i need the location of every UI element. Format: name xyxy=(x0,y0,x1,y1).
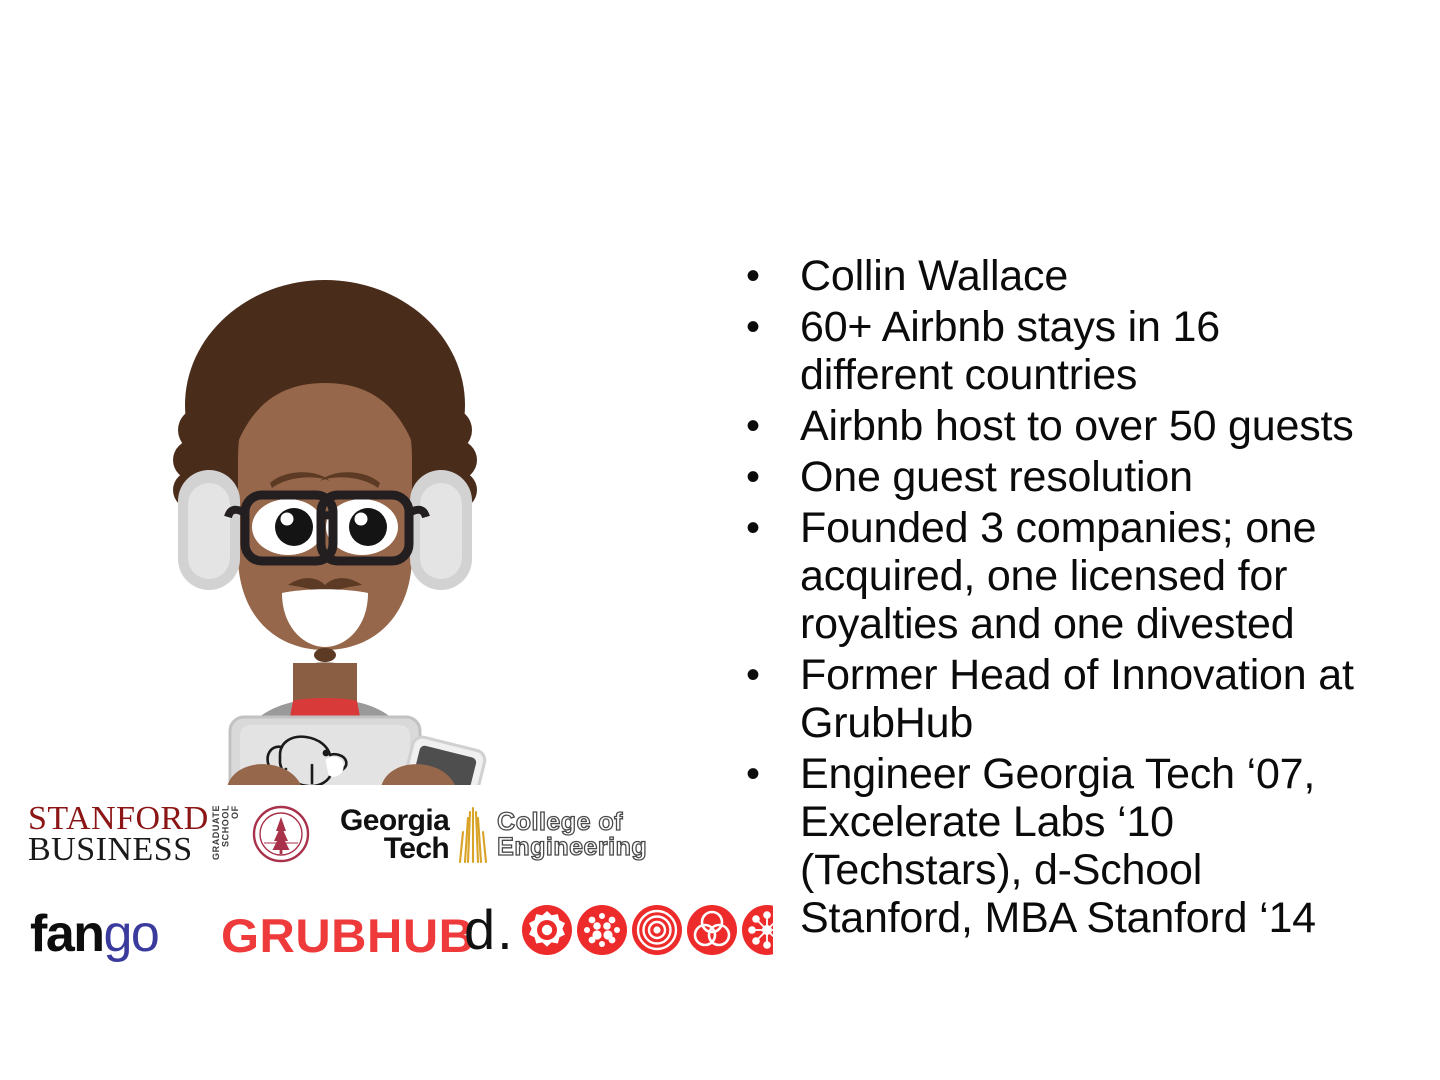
bullet-marker: • xyxy=(738,750,800,798)
slide-canvas: STANFORD BUSINESS GRADUATE SCHOOL OF Geo… xyxy=(0,0,1440,1080)
gear-icon xyxy=(522,905,572,955)
dot-cluster-icon xyxy=(577,905,627,955)
bullet-marker: • xyxy=(738,651,800,699)
stanford-vertical-line-1: GRADUATE xyxy=(211,805,221,860)
gt-college-of-engineering: College of Engineering xyxy=(497,810,647,860)
bullet-marker: • xyxy=(738,453,800,501)
logo-row-top: STANFORD BUSINESS GRADUATE SCHOOL OF Geo… xyxy=(28,798,718,870)
logo-dschool: d. xyxy=(464,902,773,958)
stanford-word-bottom: BUSINESS xyxy=(28,834,209,865)
stanford-wordmark: STANFORD BUSINESS xyxy=(28,803,209,866)
list-item-text: 60+ Airbnb stays in 16 different countri… xyxy=(800,303,1370,399)
fango-part-1: fan xyxy=(30,905,104,963)
logo-stanford-gsb: STANFORD BUSINESS GRADUATE SCHOOL OF xyxy=(28,804,310,864)
gt-coe-line-1: College of xyxy=(497,810,647,835)
list-item: • Engineer Georgia Tech ‘07, Excelerate … xyxy=(738,750,1370,942)
list-item: • Former Head of Innovation at GrubHub xyxy=(738,651,1370,747)
list-item: • 60+ Airbnb stays in 16 different count… xyxy=(738,303,1370,399)
headphone-left-cup xyxy=(178,470,240,590)
bullet-marker: • xyxy=(738,303,800,351)
logo-row-bottom: fango GRUBHUB d. xyxy=(24,900,754,970)
list-item-text: Engineer Georgia Tech ‘07, Excelerate La… xyxy=(800,750,1370,942)
stanford-seal-icon xyxy=(252,805,310,863)
bullet-marker: • xyxy=(738,402,800,450)
bullet-marker: • xyxy=(738,504,800,552)
stanford-word-top: STANFORD xyxy=(28,803,209,834)
gt-coe-line-2: Engineering xyxy=(497,835,647,860)
gt-word-georgia: Georgia xyxy=(340,807,449,836)
trefoil-knot-icon xyxy=(687,905,737,955)
logo-fango: fango xyxy=(30,908,158,960)
list-item: • Collin Wallace xyxy=(738,252,1370,300)
concentric-rings-icon xyxy=(632,905,682,955)
list-item-text: One guest resolution xyxy=(800,453,1370,501)
logo-grubhub: GRUBHUB xyxy=(221,912,474,959)
gt-flame-icon xyxy=(456,806,490,864)
stanford-vertical-line-2: SCHOOL OF xyxy=(220,805,239,847)
list-item: • Founded 3 companies; one acquired, one… xyxy=(738,504,1370,648)
laptop-badge xyxy=(326,757,343,776)
list-item-text: Airbnb host to over 50 guests xyxy=(800,402,1370,450)
bullet-marker: • xyxy=(738,252,800,300)
bio-bullet-list: • Collin Wallace • 60+ Airbnb stays in 1… xyxy=(738,252,1370,945)
dschool-wordmark: d. xyxy=(464,902,515,958)
list-item-text: Founded 3 companies; one acquired, one l… xyxy=(800,504,1370,648)
gt-word-tech: Tech xyxy=(384,835,449,864)
list-item-text: Collin Wallace xyxy=(800,252,1370,300)
stanford-vertical-text: GRADUATE SCHOOL OF xyxy=(212,805,240,863)
list-item: • Airbnb host to over 50 guests xyxy=(738,402,1370,450)
fango-part-2: go xyxy=(104,905,159,963)
headphone-right-cup xyxy=(410,470,472,590)
avatar-illustration xyxy=(130,255,520,785)
avatar-svg xyxy=(130,255,520,785)
list-item: • One guest resolution xyxy=(738,453,1370,501)
list-item-text: Former Head of Innovation at GrubHub xyxy=(800,651,1370,747)
dschool-icon-strip xyxy=(521,904,773,956)
georgia-tech-wordmark: Georgia Tech xyxy=(340,807,449,864)
logo-georgia-tech: Georgia Tech College of Engineering xyxy=(340,806,647,864)
